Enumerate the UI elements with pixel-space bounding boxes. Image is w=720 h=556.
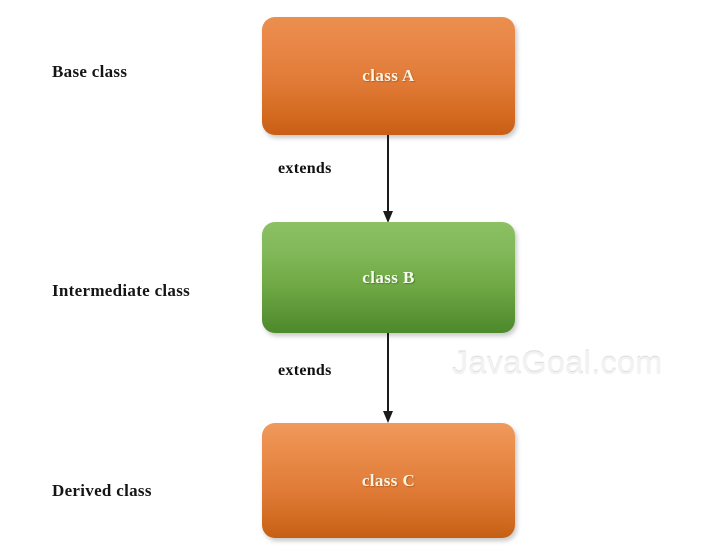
node-class-a-label: class A [362,66,414,86]
node-class-c-label: class C [362,471,415,491]
edge-label-extends-a-b: extends [278,160,332,178]
node-class-b-label: class B [362,268,414,288]
node-class-a: class A [262,17,515,135]
role-label-derived-class: Derived class [52,481,152,501]
role-label-intermediate-class: Intermediate class [52,281,190,301]
arrow-shaft [387,135,389,213]
node-class-b: class B [262,222,515,333]
arrow-shaft [387,333,389,413]
role-label-base-class: Base class [52,62,127,82]
edge-label-extends-b-c: extends [278,362,332,380]
arrow-class-a-to-class-b [387,135,390,223]
watermark: JavaGoal.com [452,345,663,382]
arrowhead-icon [383,411,393,423]
inheritance-diagram: Base class Intermediate class Derived cl… [0,0,720,556]
node-class-c: class C [262,423,515,538]
arrow-class-b-to-class-c [387,333,390,424]
